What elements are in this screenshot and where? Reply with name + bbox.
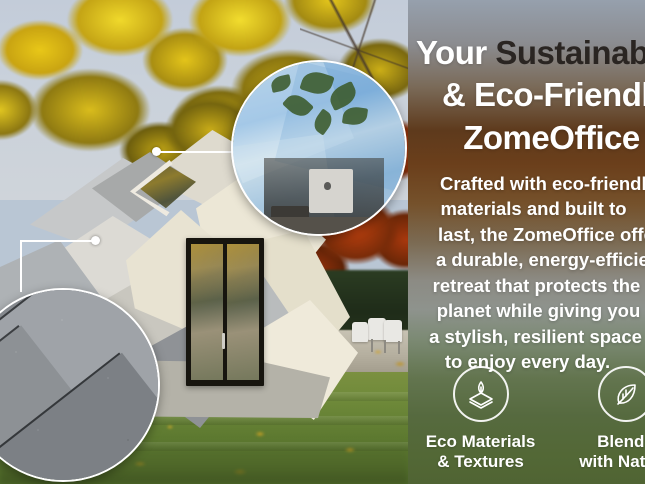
page-title: Your Sustainable & Eco-Friendly ZomeOffi… [408,32,645,159]
headline-line-3: ZomeOffice [458,117,645,159]
headline-word-your: Your [416,34,495,71]
glass-detail-image [233,62,405,234]
door-reflection [227,244,259,319]
chair-leg [398,341,400,354]
desk-monitor [309,169,354,214]
desk-surface [257,217,384,234]
body-line: a stylish, resilient space [426,324,645,350]
texture-grain [0,290,158,480]
chair-leg [371,339,373,352]
body-line: planet while giving you [432,298,645,324]
headline-line-2: & Eco-Friendly [442,74,645,116]
body-line: last, the ZomeOffice offers [438,222,645,248]
chair-leg [384,340,386,353]
leaf-icon [598,366,645,422]
texture-detail-image [0,290,158,480]
patio-chair [384,320,402,342]
callout-connector-glass [158,151,240,153]
entrance-double-doors[interactable] [186,238,264,386]
body-line: a durable, energy-efficient [436,247,645,273]
callout-panel-texture-detail[interactable] [0,288,160,482]
eco-materials-layers-leaf-icon [453,366,509,422]
callout-glass-facade-detail[interactable] [231,60,407,236]
feature-list: Eco Materials & Textures Bl [408,366,645,473]
headline-line-1: Your Sustainable [416,32,645,74]
door-reflection [191,244,223,319]
feature-eco-materials[interactable]: Eco Materials & Textures [408,366,553,473]
body-line: Crafted with eco-friendly [440,171,645,197]
feature-label: Blends with Nature [579,432,645,473]
feature-label-line-2: & Textures [426,452,536,472]
marketing-text-panel: Your Sustainable & Eco-Friendly ZomeOffi… [408,0,645,484]
door-glass-right [227,244,259,380]
feature-label-line-1: Eco Materials [426,432,536,452]
feature-label: Eco Materials & Textures [426,432,536,473]
door-glass-left [191,244,223,380]
feature-blends-with-nature[interactable]: Blends with Nature [553,366,645,473]
feature-label-line-2: with Nature [579,452,645,472]
body-line: retreat that protects the [428,273,645,299]
feature-label-line-1: Blends [579,432,645,452]
door-handle[interactable] [222,333,225,349]
body-line: materials and built to [422,196,645,222]
callout-connector-texture-h [20,240,93,242]
body-copy: Crafted with eco-friendly materials and … [408,171,645,375]
promo-banner: Your Sustainable & Eco-Friendly ZomeOffi… [0,0,645,484]
product-photo [0,0,408,484]
callout-connector-texture-v [20,240,22,292]
headline-word-sustainable: Sustainable [495,34,645,71]
